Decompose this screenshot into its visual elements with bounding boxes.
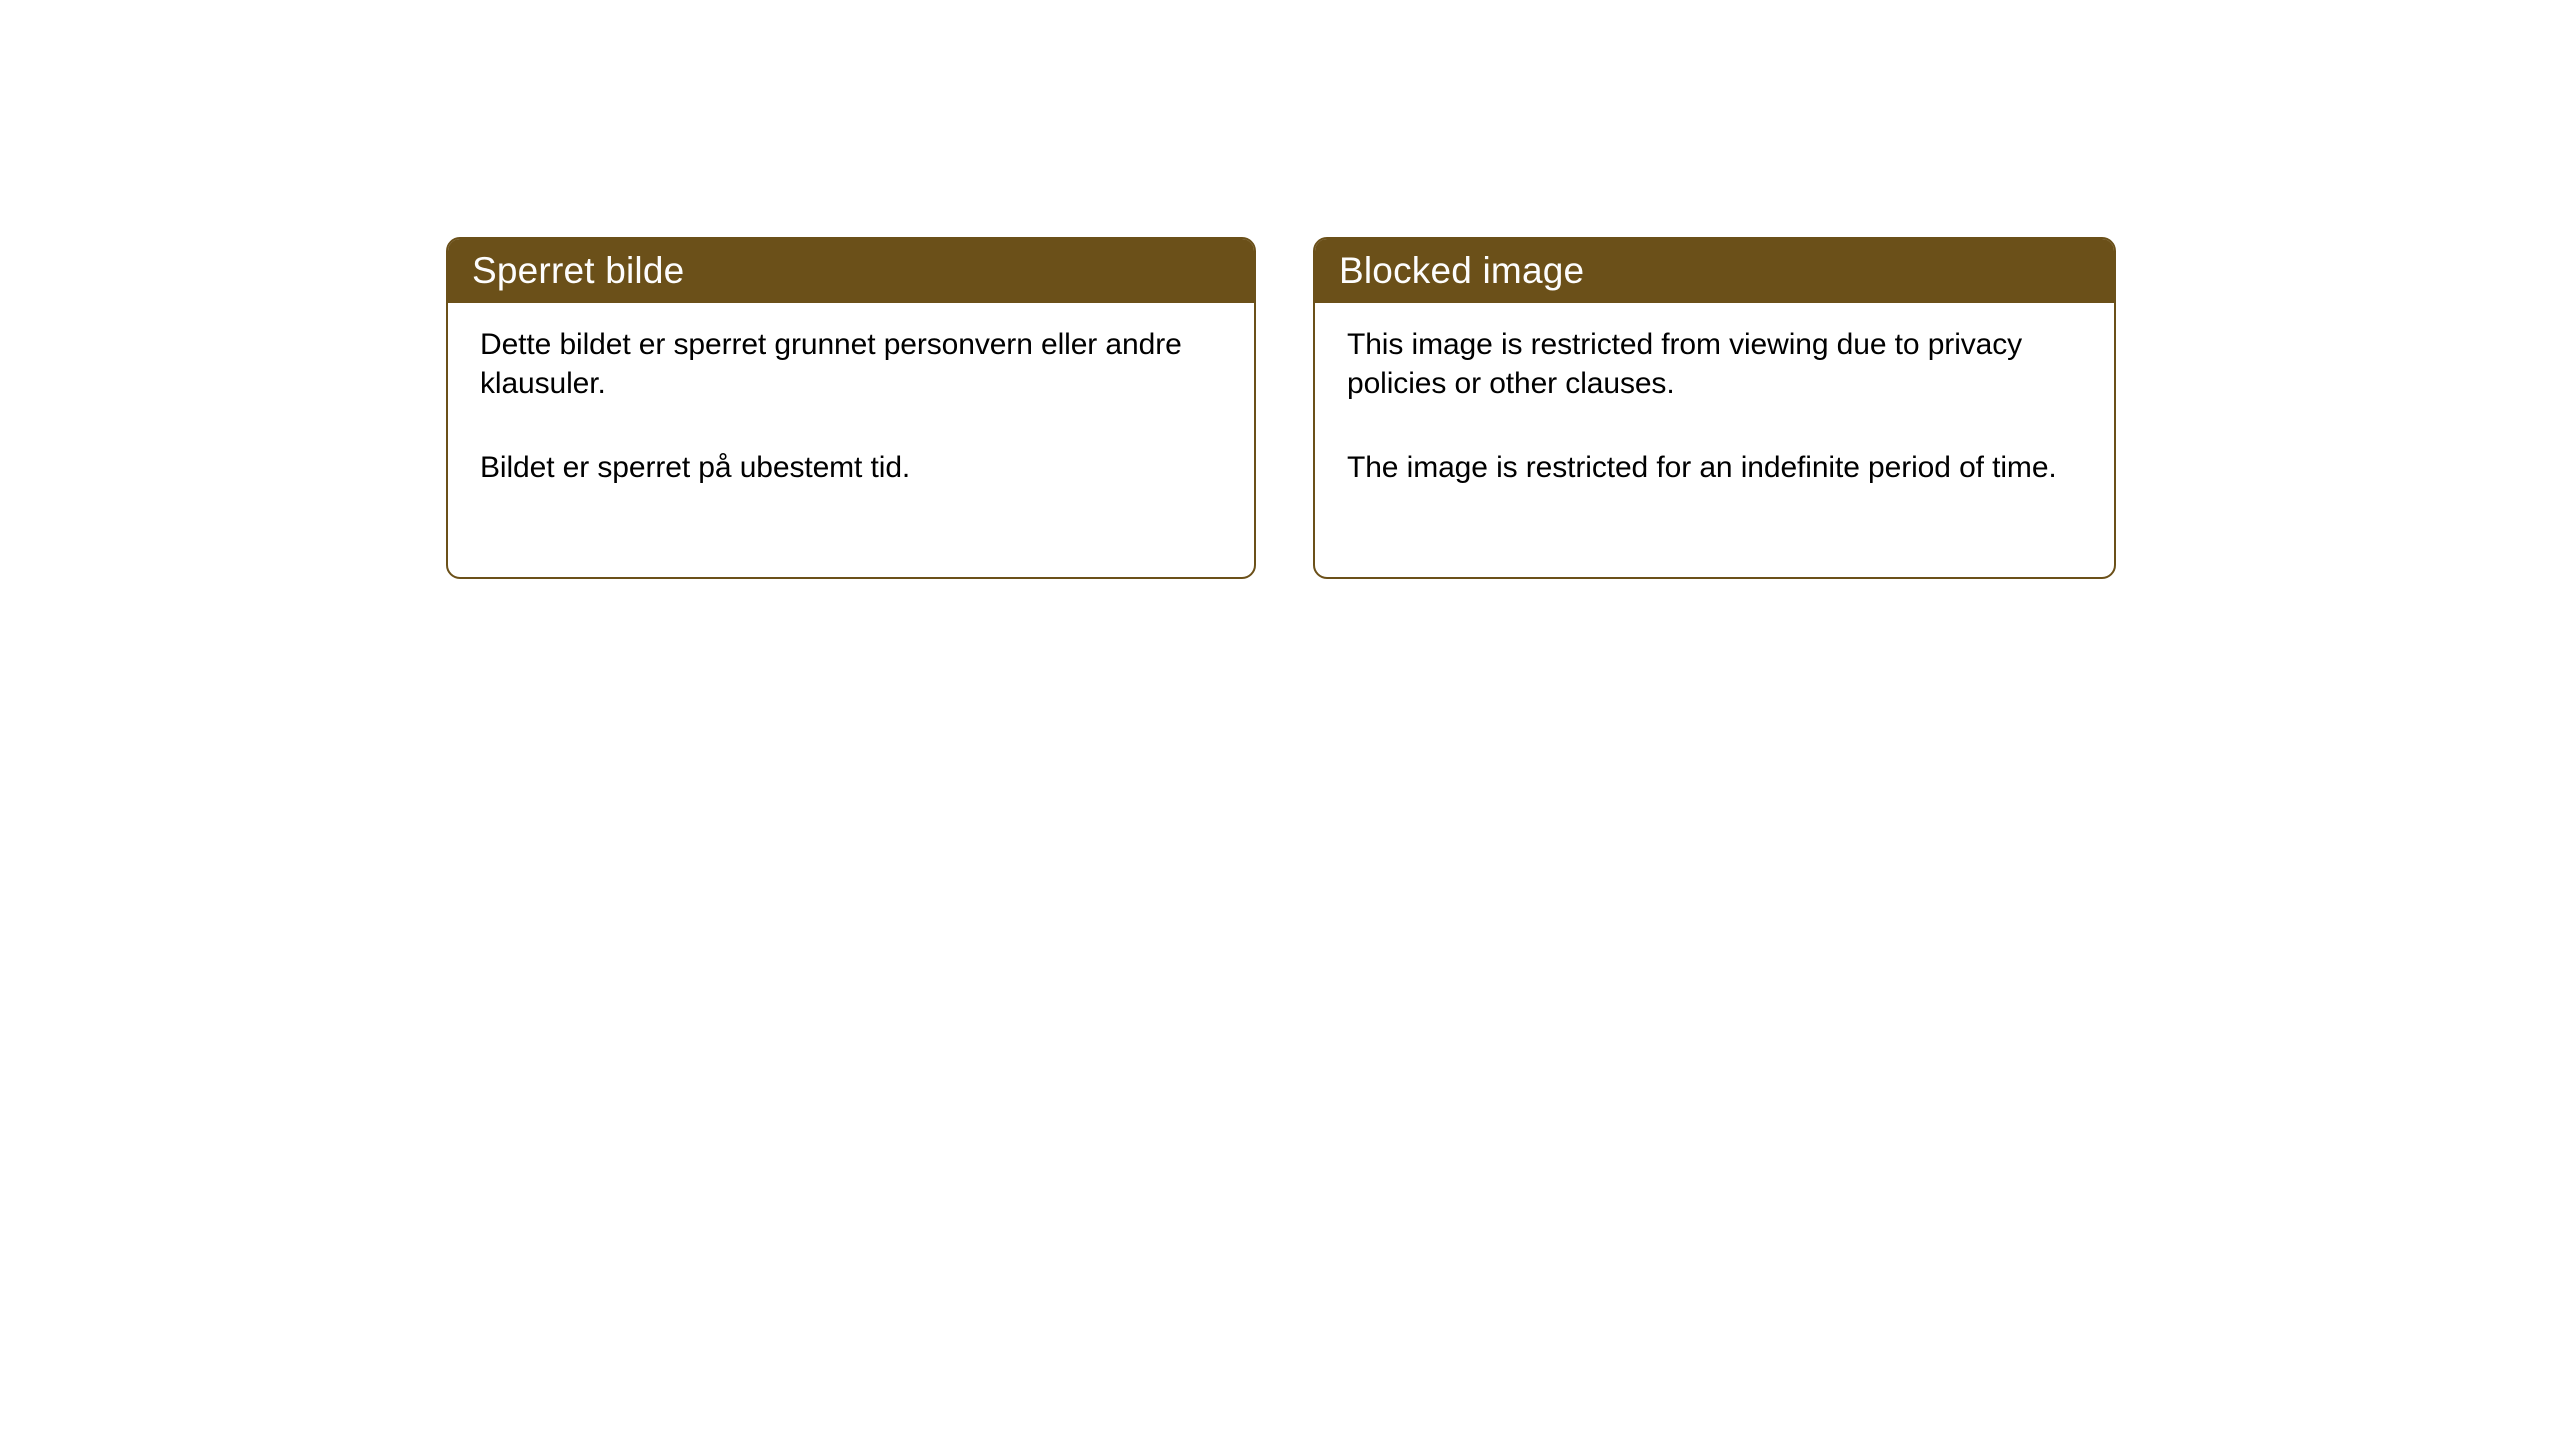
panel-paragraph-reason-norwegian: Dette bildet er sperret grunnet personve… (480, 325, 1228, 404)
blocked-image-notice-english: Blocked image This image is restricted f… (1313, 237, 2116, 579)
blocked-image-notice-norwegian: Sperret bilde Dette bildet er sperret gr… (446, 237, 1256, 579)
panel-paragraph-duration-english: The image is restricted for an indefinit… (1347, 448, 2088, 487)
panel-title-english: Blocked image (1339, 252, 1584, 289)
page-canvas: Sperret bilde Dette bildet er sperret gr… (0, 0, 2560, 1440)
panel-body-norwegian: Dette bildet er sperret grunnet personve… (448, 303, 1254, 487)
panel-title-norwegian: Sperret bilde (472, 252, 684, 289)
panel-header-english: Blocked image (1314, 238, 2115, 303)
panel-paragraph-duration-norwegian: Bildet er sperret på ubestemt tid. (480, 448, 1228, 487)
panel-paragraph-reason-english: This image is restricted from viewing du… (1347, 325, 2088, 404)
panel-body-english: This image is restricted from viewing du… (1315, 303, 2114, 487)
panel-header-norwegian: Sperret bilde (447, 238, 1255, 303)
